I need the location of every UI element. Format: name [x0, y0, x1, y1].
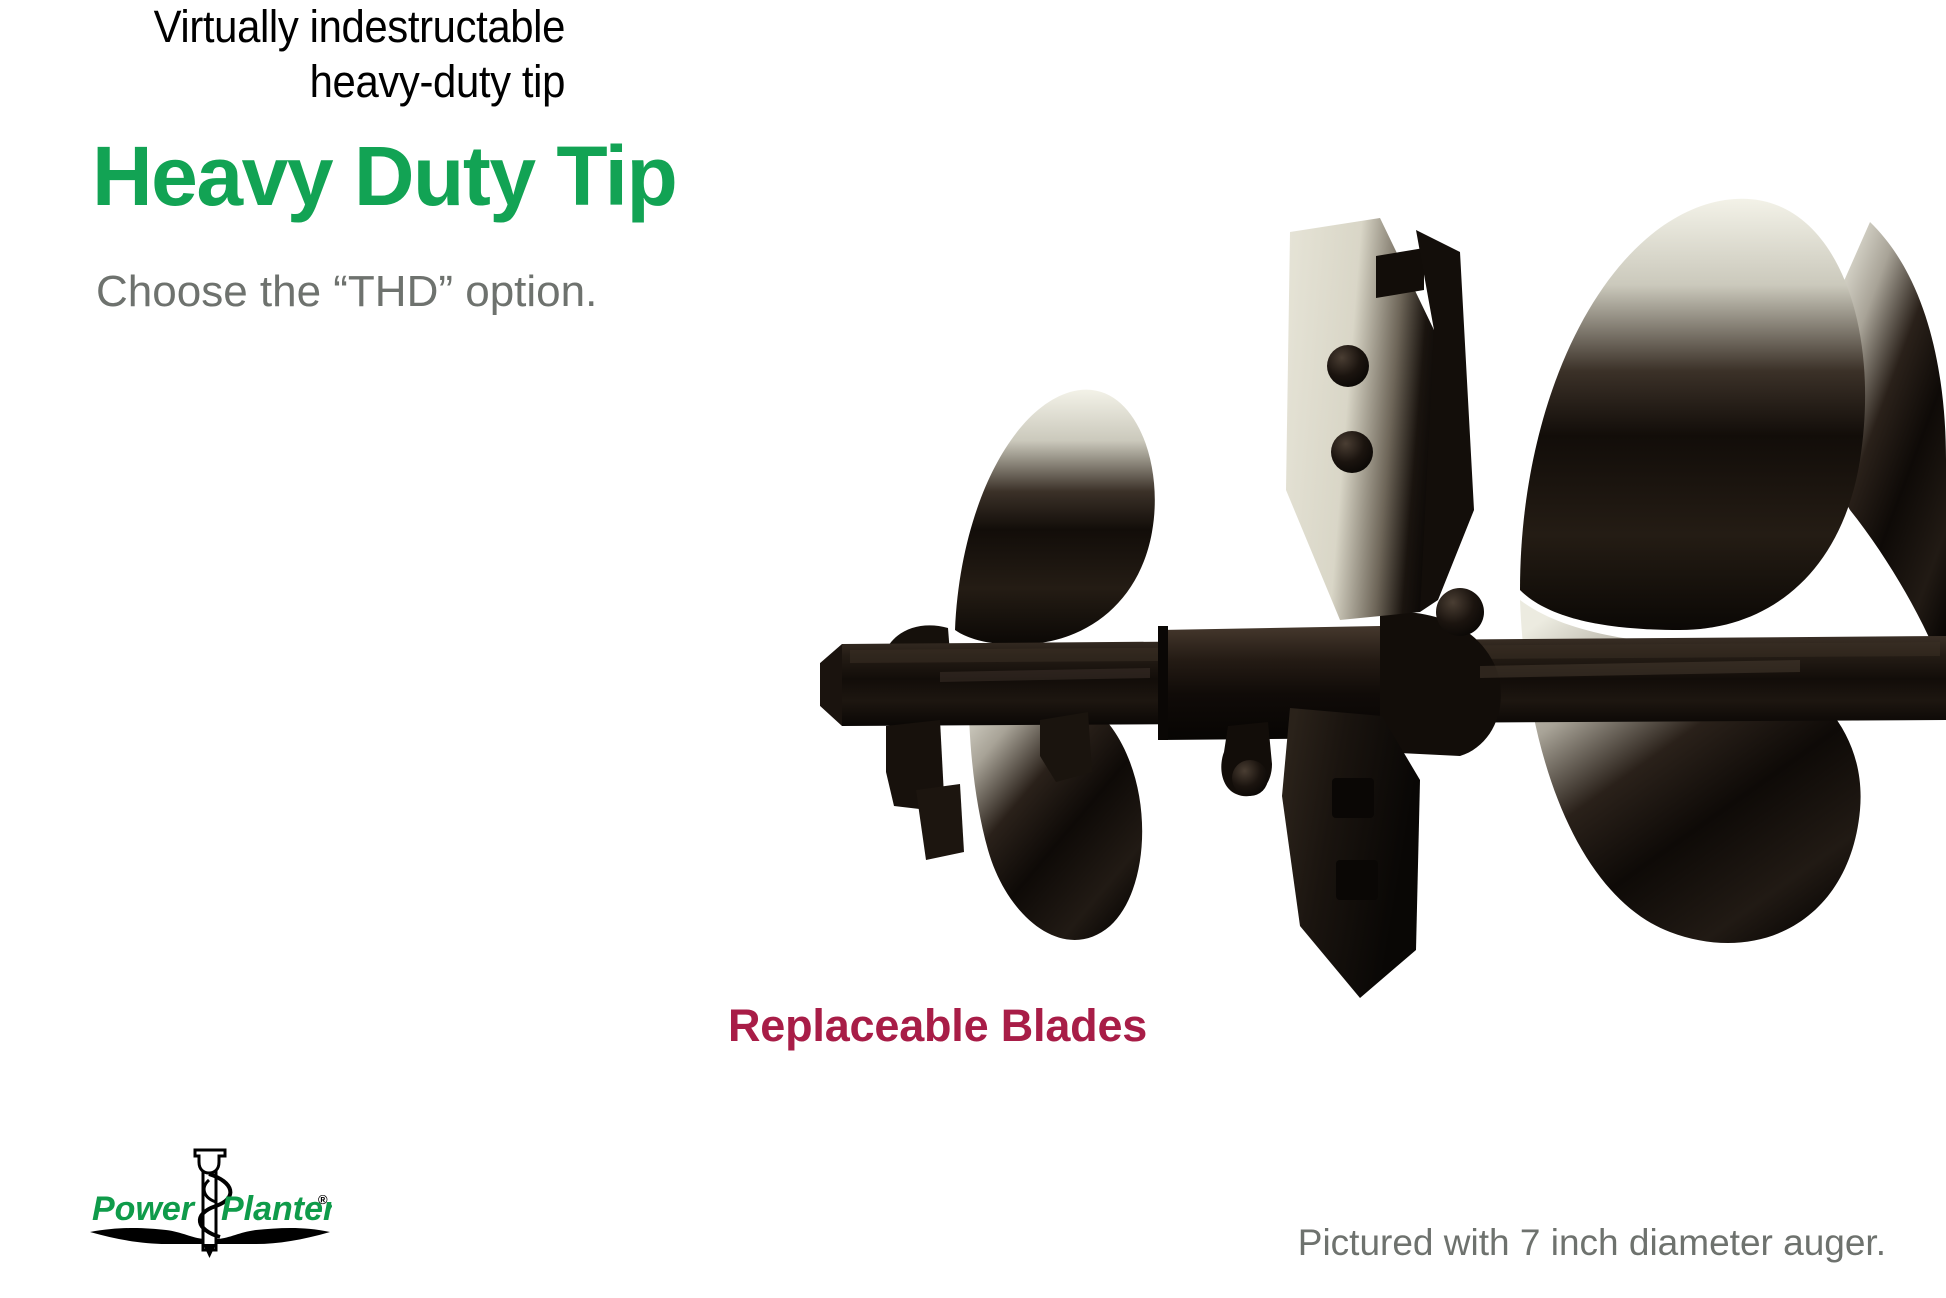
page-title: Heavy Duty Tip [92, 134, 676, 220]
logo-registered-mark: ® [318, 1192, 328, 1207]
auger-handle-icon [195, 1150, 225, 1173]
callout-label-replaceable-blades: Replaceable Blades [728, 1000, 1147, 1052]
image-caption: Pictured with 7 inch diameter auger. [1298, 1222, 1886, 1264]
callout-line-1: Virtually indestructable [154, 1, 565, 52]
slide-canvas: Heavy Duty Tip Choose the “THD” option. … [0, 0, 1946, 1298]
power-planter-logo: Power Planter ® [88, 1140, 332, 1258]
callout-line-2: heavy-duty tip [310, 56, 565, 107]
logo-word-power: Power [92, 1190, 196, 1228]
page-subtitle: Choose the “THD” option. [96, 268, 597, 316]
leader-line-heavy-duty-tip [0, 110, 144, 115]
logo-word-planter: Planter [221, 1190, 332, 1228]
heavy-duty-auger-photo [820, 160, 1946, 1040]
callout-label-heavy-duty-tip: Virtually indestructable heavy-duty tip [40, 0, 565, 110]
